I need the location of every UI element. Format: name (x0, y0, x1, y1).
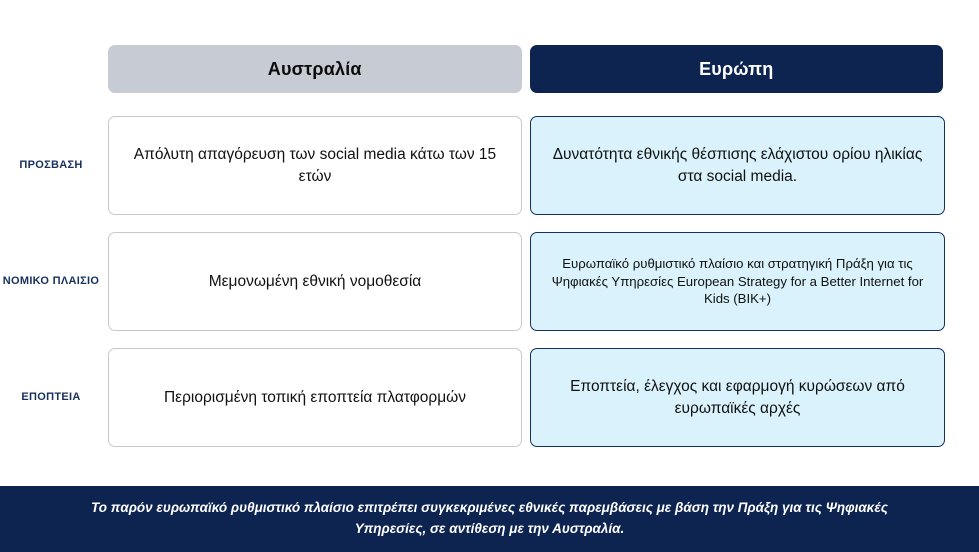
cell-europe-legal-framework: Ευρωπαϊκό ρυθμιστικό πλαίσιο και στρατηγ… (530, 232, 945, 331)
column-header-australia: Αυστραλία (108, 45, 522, 93)
footer-banner: Το παρόν ευρωπαϊκό ρυθμιστικό πλαίσιο επ… (0, 486, 979, 552)
cell-europe-access: Δυνατότητα εθνικής θέσπισης ελάχιστου ορ… (530, 116, 945, 215)
cell-europe-supervision: Εποπτεία, έλεγχος και εφαρμογή κυρώσεων … (530, 348, 945, 447)
comparison-table: Αυστραλία Ευρώπη ΠΡΟΣΒΑΣΗ Απόλυτη απαγόρ… (0, 0, 979, 470)
cell-australia-legal-framework: Μεμονωμένη εθνική νομοθεσία (108, 232, 522, 331)
footer-banner-text: Το παρόν ευρωπαϊκό ρυθμιστικό πλαίσιο επ… (80, 498, 900, 540)
table-row: ΕΠΟΠΤΕΙΑ Περιορισμένη τοπική εποπτεία πλ… (0, 348, 979, 447)
cell-australia-access: Απόλυτη απαγόρευση των social media κάτω… (108, 116, 522, 215)
table-row: ΝΟΜΙΚΟ ΠΛΑΙΣΙΟ Μεμονωμένη εθνική νομοθεσ… (0, 232, 979, 331)
column-header-australia-label: Αυστραλία (268, 59, 362, 80)
table-row: ΠΡΟΣΒΑΣΗ Απόλυτη απαγόρευση των social m… (0, 116, 979, 215)
table-header-row: Αυστραλία Ευρώπη (108, 45, 943, 93)
comparison-slide: Αυστραλία Ευρώπη ΠΡΟΣΒΑΣΗ Απόλυτη απαγόρ… (0, 0, 979, 552)
column-header-europe: Ευρώπη (530, 45, 944, 93)
table-body: ΠΡΟΣΒΑΣΗ Απόλυτη απαγόρευση των social m… (0, 116, 979, 464)
row-label-legal-framework: ΝΟΜΙΚΟ ΠΛΑΙΣΙΟ (0, 232, 108, 331)
row-cells: Περιορισμένη τοπική εποπτεία πλατφορμών … (108, 348, 979, 447)
row-label-supervision: ΕΠΟΠΤΕΙΑ (0, 348, 108, 447)
row-cells: Μεμονωμένη εθνική νομοθεσία Ευρωπαϊκό ρυ… (108, 232, 979, 331)
column-header-europe-label: Ευρώπη (699, 59, 773, 80)
row-label-access: ΠΡΟΣΒΑΣΗ (0, 116, 108, 215)
cell-australia-supervision: Περιορισμένη τοπική εποπτεία πλατφορμών (108, 348, 522, 447)
row-cells: Απόλυτη απαγόρευση των social media κάτω… (108, 116, 979, 215)
